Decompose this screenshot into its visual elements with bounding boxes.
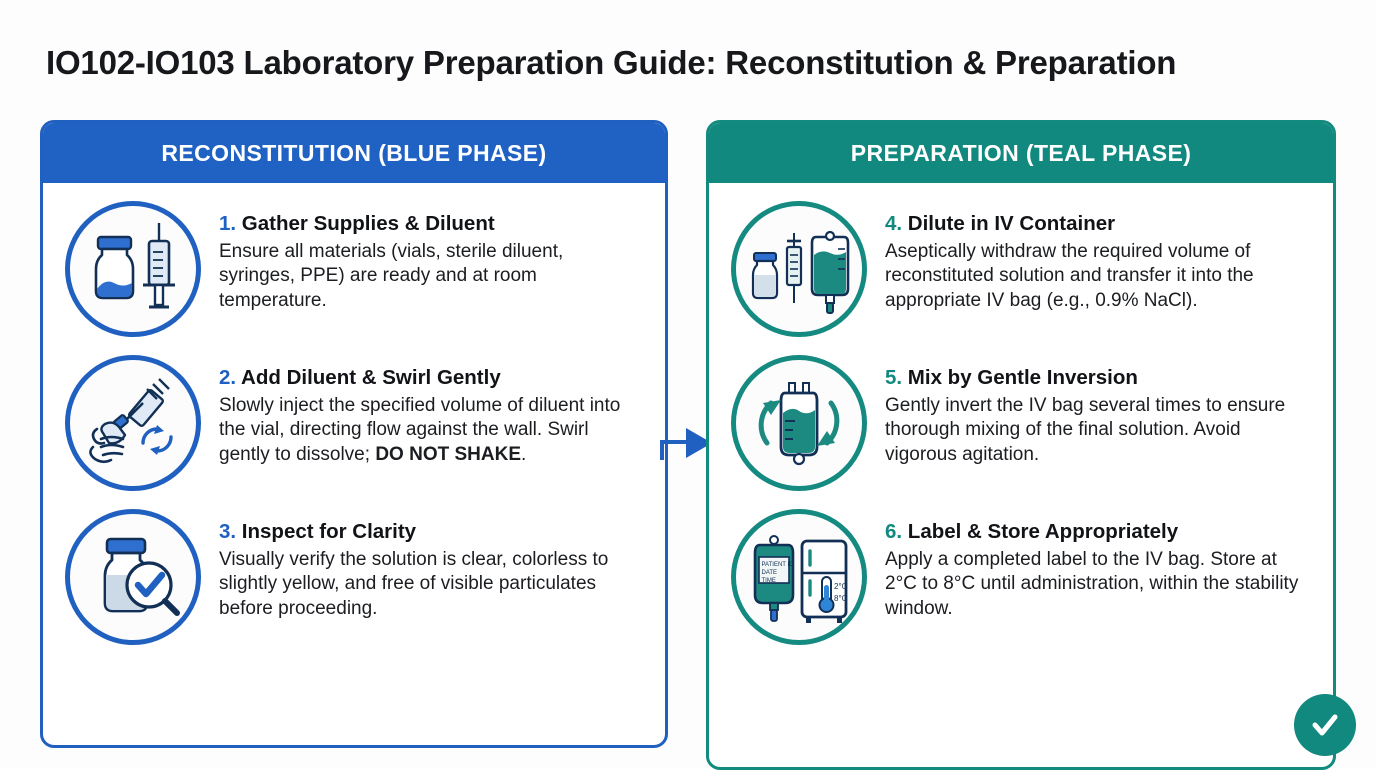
labeled-bag-refrigerator-icon: PATIENT ID DATE TIME — [731, 509, 867, 645]
step-number: 6. — [885, 520, 908, 543]
step-title-text: Mix by Gentle Inversion — [908, 366, 1138, 389]
step-description-part2: . — [521, 444, 526, 465]
check-icon — [1308, 708, 1342, 742]
step-title-text: Gather Supplies & Diluent — [242, 212, 495, 235]
step-title: 2. Add Diluent & Swirl Gently — [219, 365, 643, 391]
vial-and-syringe-icon — [65, 201, 201, 337]
step-title-text: Inspect for Clarity — [242, 520, 416, 543]
step-description: Aseptically withdraw the required volume… — [885, 240, 1311, 314]
steps-list-reconstitution: 1. Gather Supplies & Diluent Ensure all … — [43, 183, 665, 655]
step-item: 1. Gather Supplies & Diluent Ensure all … — [65, 201, 643, 337]
step-item: 5. Mix by Gentle Inversion Gently invert… — [731, 355, 1311, 491]
completion-check-badge — [1294, 694, 1356, 756]
step-title: 4. Dilute in IV Container — [885, 211, 1311, 237]
temp-line-1: 2°C — [834, 582, 848, 591]
panel-preparation: PREPARATION (TEAL PHASE) — [706, 120, 1336, 770]
step-description: Apply a completed label to the IV bag. S… — [885, 548, 1311, 622]
step-number: 2. — [219, 366, 241, 389]
step-description: Ensure all materials (vials, sterile dil… — [219, 240, 643, 314]
step-body: 2. Add Diluent & Swirl Gently Slowly inj… — [219, 355, 643, 468]
step-description: Slowly inject the specified volume of di… — [219, 394, 643, 468]
panel-reconstitution: RECONSTITUTION (BLUE PHASE) — [40, 120, 668, 748]
infographic-canvas: IO102-IO103 Laboratory Preparation Guide… — [0, 0, 1376, 768]
step-item: 4. Dilute in IV Container Aseptically wi… — [731, 201, 1311, 337]
hand-injecting-vial-swirl-icon — [65, 355, 201, 491]
step-number: 1. — [219, 212, 242, 235]
bag-label-line-2: DATE — [762, 570, 778, 576]
step-body: 5. Mix by Gentle Inversion Gently invert… — [885, 355, 1311, 468]
step-title: 5. Mix by Gentle Inversion — [885, 365, 1311, 391]
step-number: 4. — [885, 212, 908, 235]
step-number: 3. — [219, 520, 242, 543]
step-title: 6. Label & Store Appropriately — [885, 519, 1311, 545]
step-title: 3. Inspect for Clarity — [219, 519, 643, 545]
step-title-text: Label & Store Appropriately — [908, 520, 1178, 543]
step-item: 3. Inspect for Clarity Visually verify t… — [65, 509, 643, 645]
step-body: 4. Dilute in IV Container Aseptically wi… — [885, 201, 1311, 314]
step-description: Visually verify the solution is clear, c… — [219, 548, 643, 622]
step-item: 2. Add Diluent & Swirl Gently Slowly inj… — [65, 355, 643, 491]
step-body: 1. Gather Supplies & Diluent Ensure all … — [219, 201, 643, 314]
iv-bag-inversion-arrows-icon — [731, 355, 867, 491]
bag-label-line-1: PATIENT ID — [762, 562, 795, 568]
step-description-emphasis: DO NOT SHAKE — [375, 444, 521, 465]
page-title: IO102-IO103 Laboratory Preparation Guide… — [46, 44, 1336, 82]
step-body: 3. Inspect for Clarity Visually verify t… — [219, 509, 643, 622]
step-title-text: Add Diluent & Swirl Gently — [241, 366, 501, 389]
step-item: PATIENT ID DATE TIME — [731, 509, 1311, 645]
step-number: 5. — [885, 366, 908, 389]
vial-magnifier-check-icon — [65, 509, 201, 645]
panel-header-preparation: PREPARATION (TEAL PHASE) — [709, 123, 1333, 183]
step-title: 1. Gather Supplies & Diluent — [219, 211, 643, 237]
step-description: Gently invert the IV bag several times t… — [885, 394, 1311, 468]
panel-header-reconstitution: RECONSTITUTION (BLUE PHASE) — [43, 123, 665, 183]
bag-label-line-3: TIME — [762, 578, 776, 584]
step-title-text: Dilute in IV Container — [908, 212, 1115, 235]
vial-syringe-iv-bag-icon — [731, 201, 867, 337]
steps-list-preparation: 4. Dilute in IV Container Aseptically wi… — [709, 183, 1333, 655]
step-body: 6. Label & Store Appropriately Apply a c… — [885, 509, 1311, 622]
temp-line-2: 8°C — [834, 594, 848, 603]
